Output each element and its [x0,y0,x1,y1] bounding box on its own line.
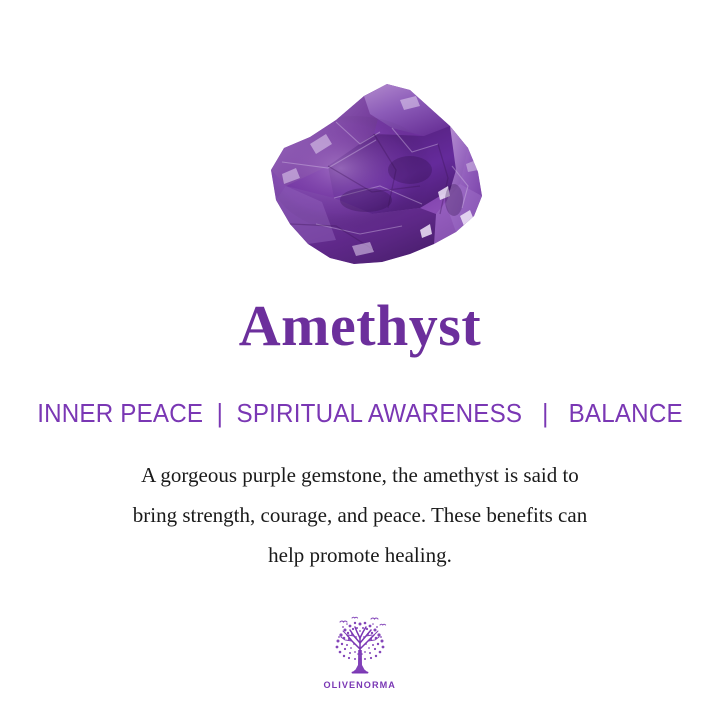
amethyst-gemstone-image [224,74,496,270]
description-line-1: A gorgeous purple gemstone, the amethyst… [50,455,670,495]
keyword-spiritual-awareness: SPIRITUAL AWARENESS [237,398,523,428]
keyword-separator-2: | [529,398,562,428]
brand-name: OLIVENORMA [324,680,396,691]
description-line-2: bring strength, courage, and peace. Thes… [50,495,670,535]
keyword-separator-1: | [210,398,230,428]
amethyst-crystal-icon [224,74,496,270]
tree-icon [327,616,393,678]
keyword-inner-peace: INNER PEACE [37,398,203,428]
gemstone-description: A gorgeous purple gemstone, the amethyst… [50,455,670,575]
keyword-balance: BALANCE [569,398,683,428]
gemstone-keywords: INNER PEACE | SPIRITUAL AWARENESS | BALA… [25,398,695,429]
amethyst-info-card: Amethyst INNER PEACE | SPIRITUAL AWARENE… [0,0,720,720]
gemstone-title: Amethyst [0,296,720,357]
brand-logo: OLIVENORMA [0,616,720,691]
description-line-3: help promote healing. [50,535,670,575]
